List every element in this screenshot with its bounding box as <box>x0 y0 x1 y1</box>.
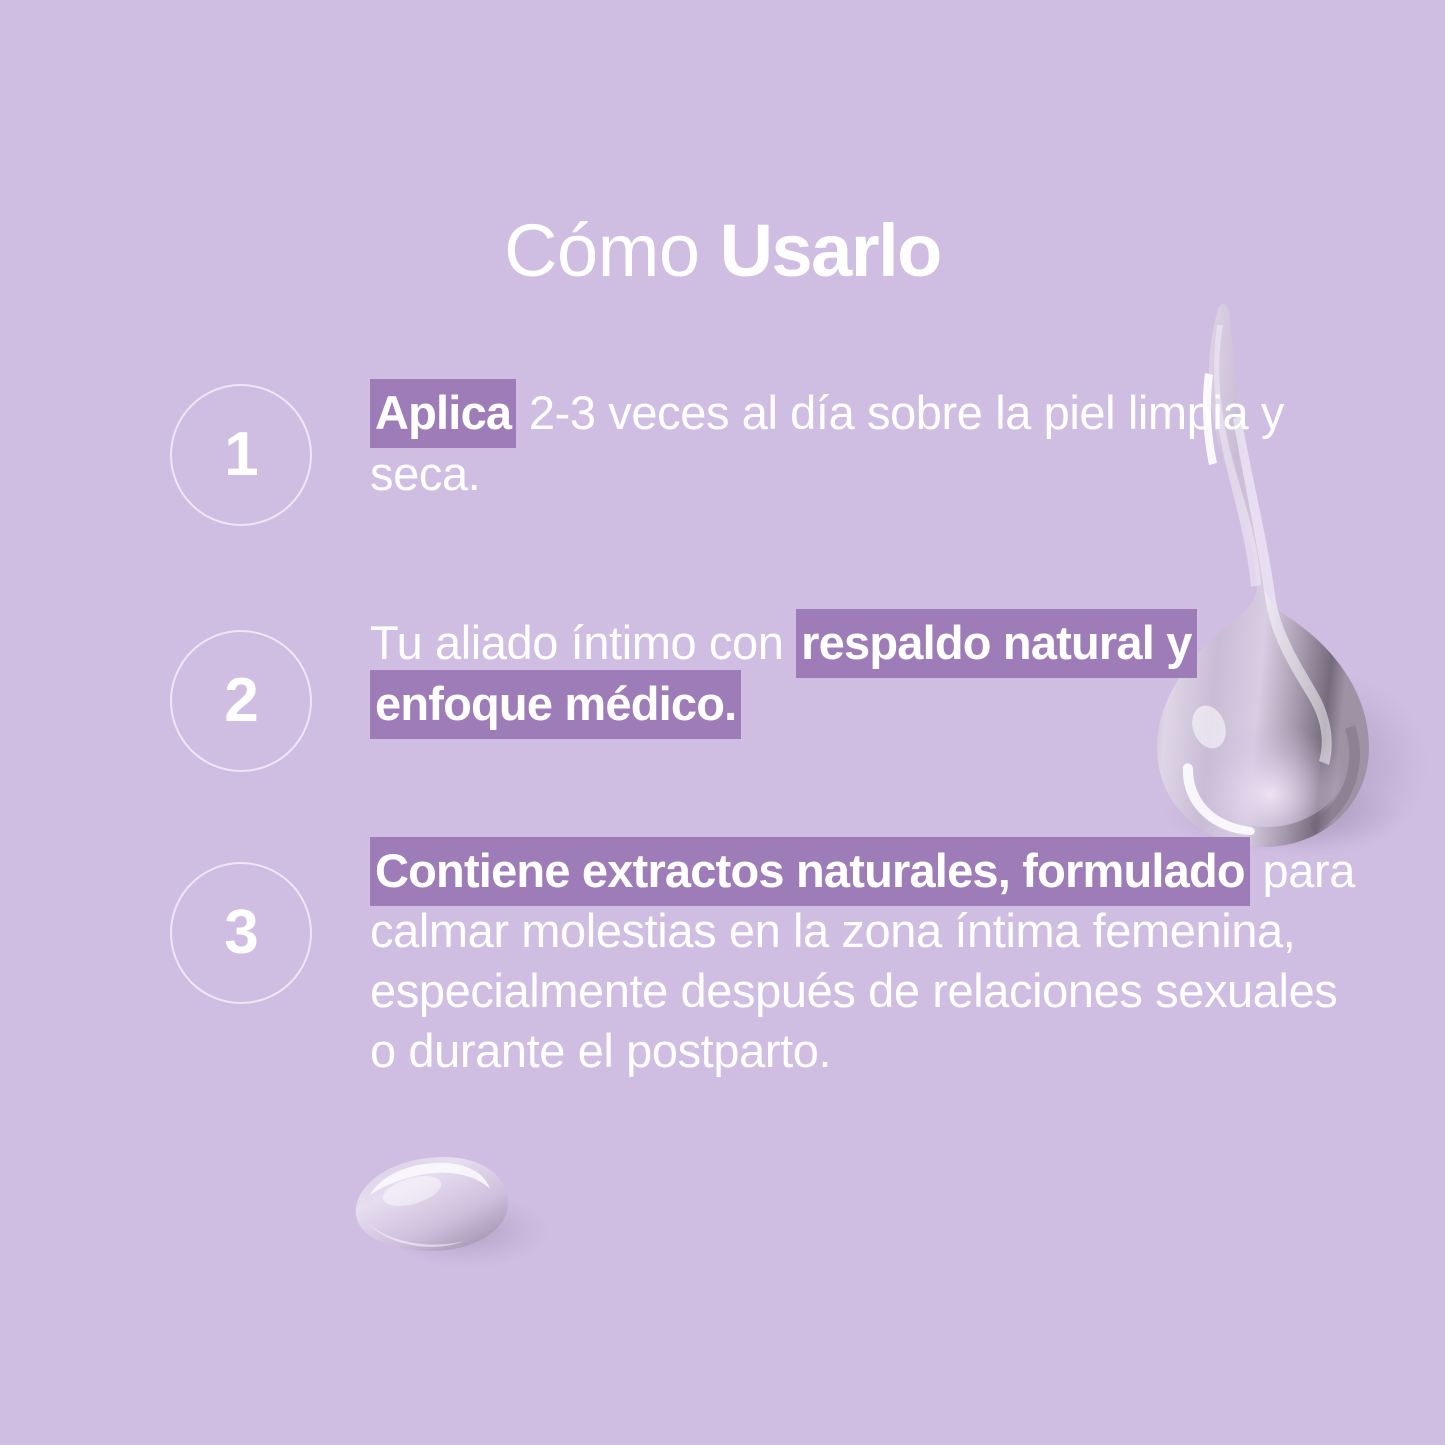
gel-droplet-small-icon <box>340 1135 560 1280</box>
page-title: Cómo Usarlo <box>0 214 1445 288</box>
step-text-2: Tu aliado íntimo con respaldo natural y … <box>370 612 1360 734</box>
step-3-highlight: Contiene extractos naturales, formulado <box>370 837 1250 906</box>
step-text-1: Aplica 2-3 veces al día sobre la piel li… <box>370 382 1360 504</box>
step-number-label: 2 <box>224 670 257 732</box>
step-number-label: 1 <box>224 424 257 486</box>
step-2-lead: Tu aliado íntimo con <box>370 616 796 669</box>
step-text-3: Contiene extractos naturales, formulado … <box>370 840 1355 1082</box>
step-number-badge-1: 1 <box>170 384 312 526</box>
step-number-badge-3: 3 <box>170 862 312 1004</box>
promo-card: Cómo Usarlo 1 Aplica 2-3 veces al día so… <box>0 0 1445 1445</box>
step-1-highlight: Aplica <box>370 379 516 448</box>
step-number-label: 3 <box>224 902 257 964</box>
page-title-light: Cómo <box>504 209 719 292</box>
step-number-badge-2: 2 <box>170 630 312 772</box>
page-title-bold: Usarlo <box>720 209 941 292</box>
gel-droplet-large-icon <box>1105 295 1435 855</box>
